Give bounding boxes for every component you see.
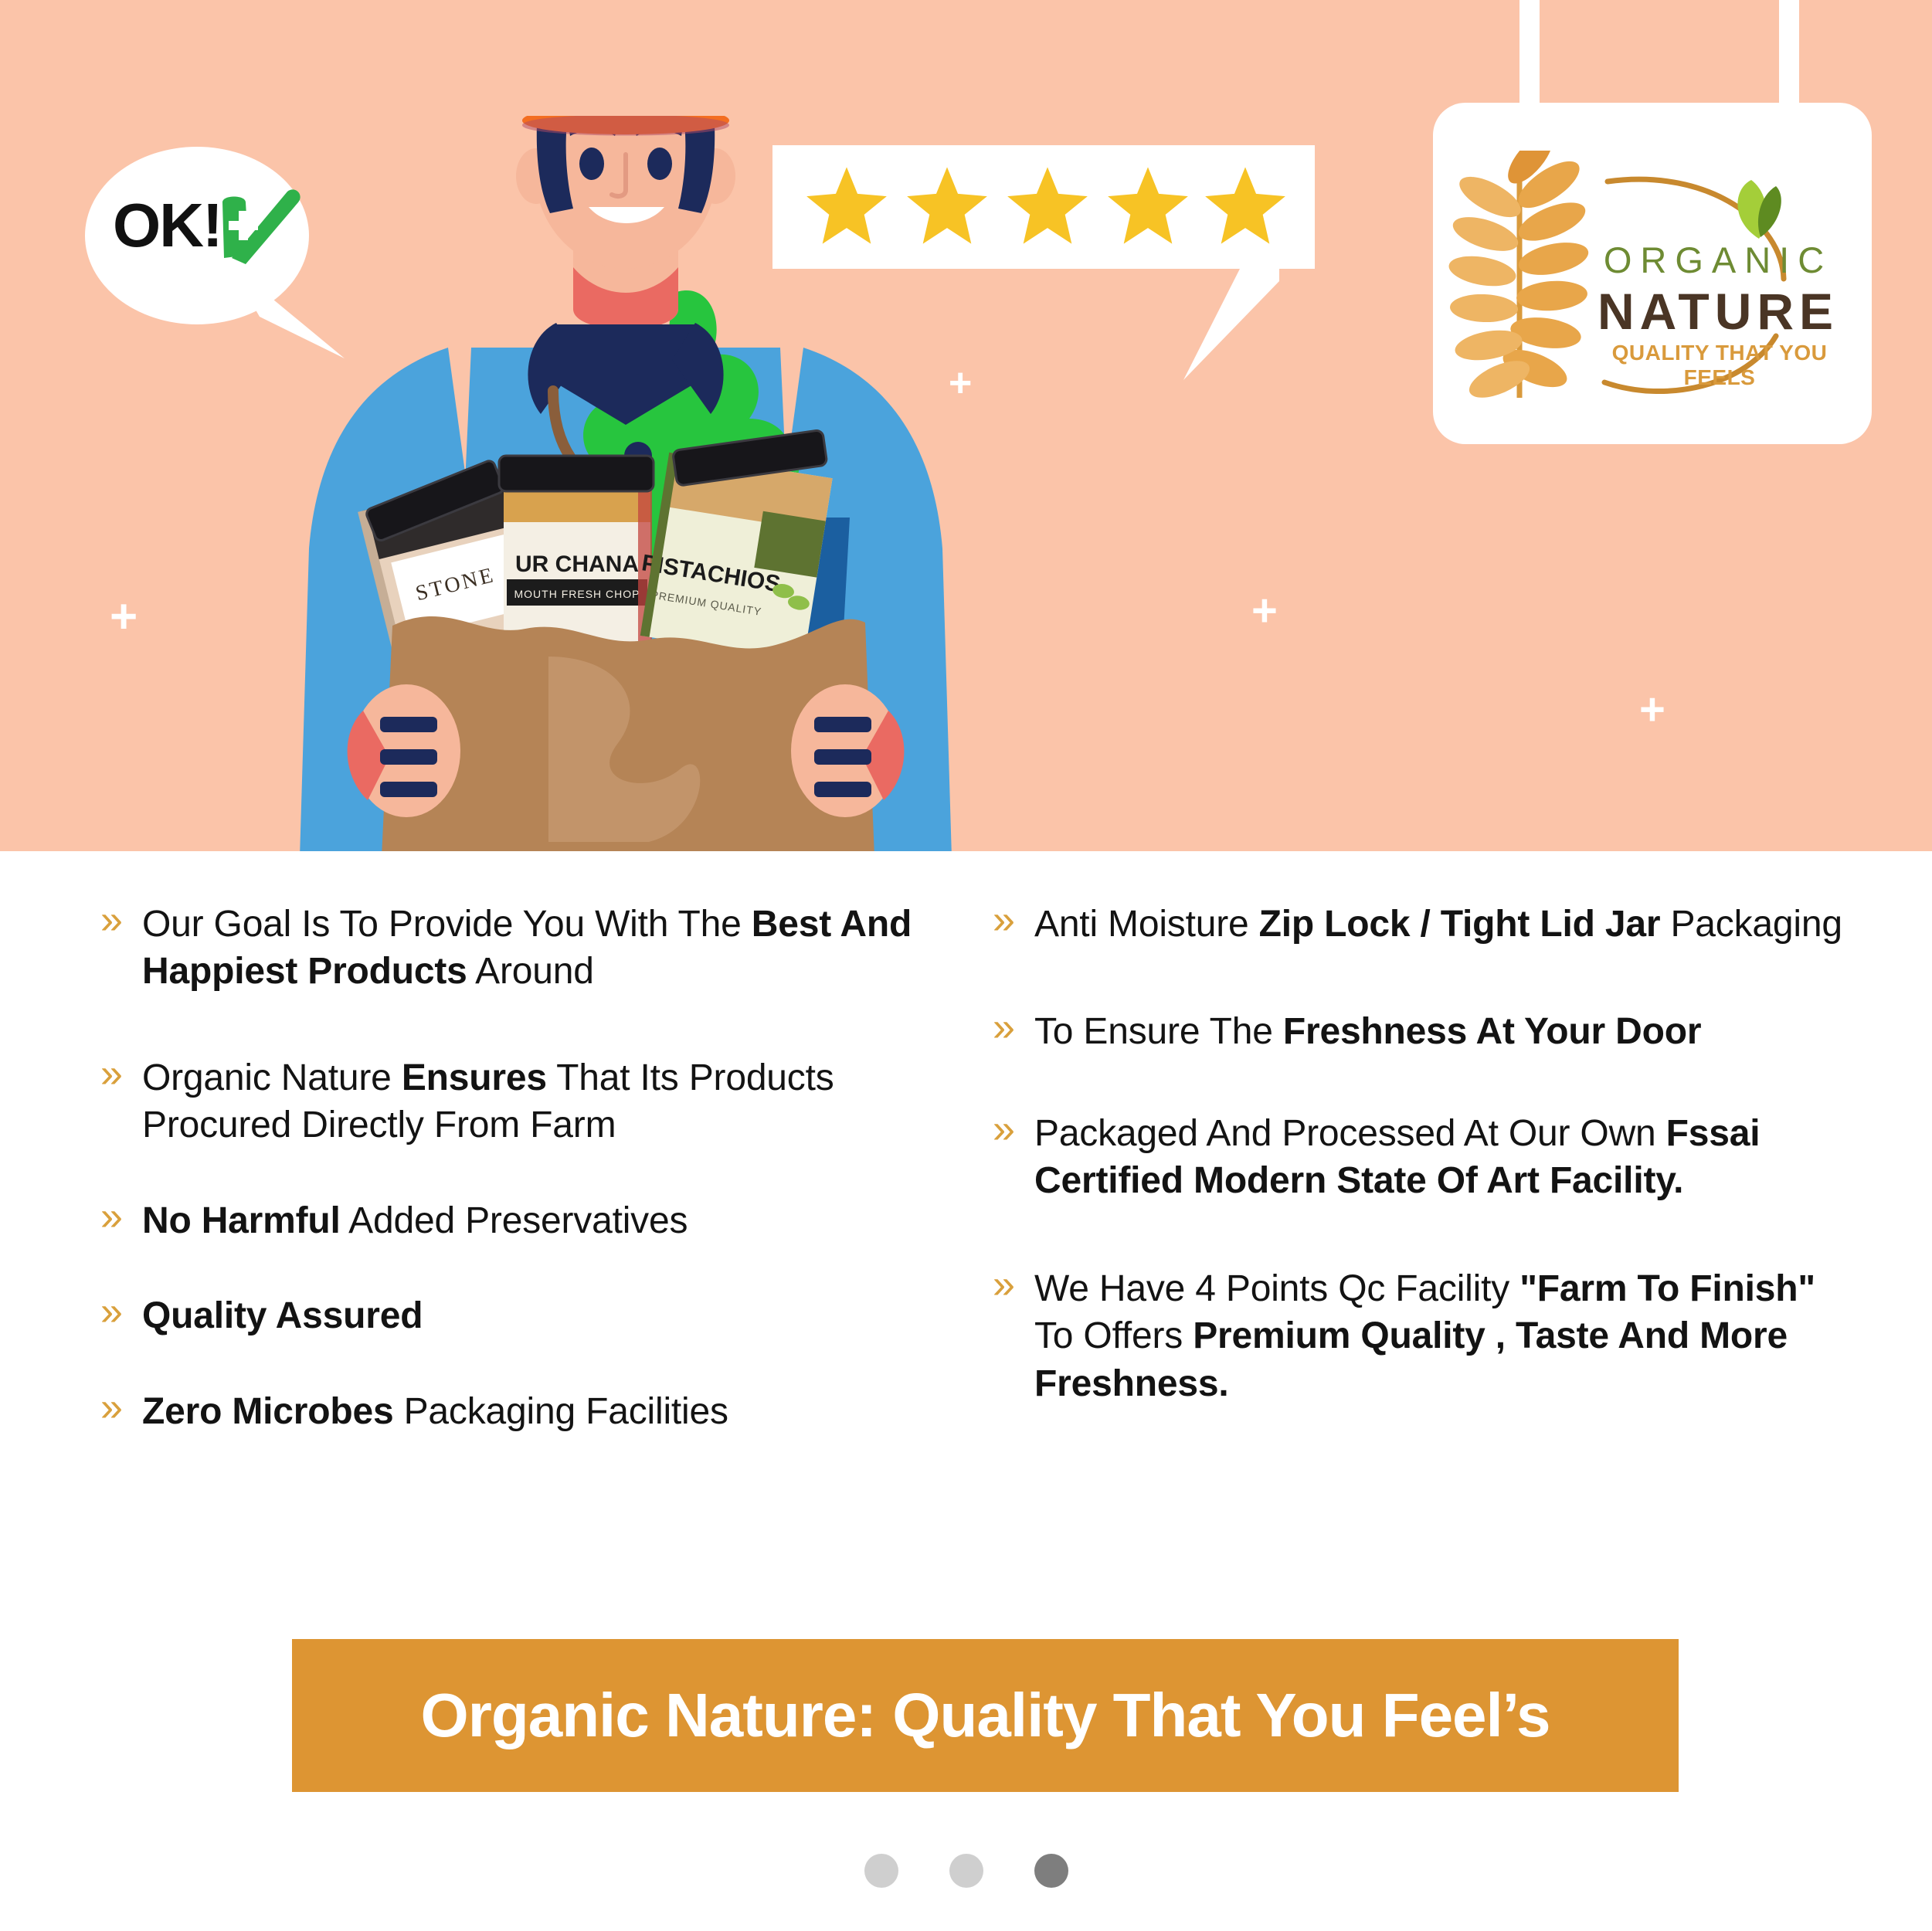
carousel-dot-3[interactable] [1034, 1854, 1068, 1888]
logo-line-organic: ORGANIC [1591, 239, 1845, 281]
svg-text:UR CHANA: UR CHANA [515, 551, 639, 577]
feature-bullet-text: No Harmful Added Preservatives [142, 1197, 935, 1244]
feature-bullet-text: Our Goal Is To Provide You With The Best… [142, 901, 935, 996]
feature-bullet-right-3: »Packaged And Processed At Our Own Fssai… [993, 1110, 1858, 1205]
feature-bullet-text: Zero Microbes Packaging Facilities [142, 1388, 935, 1435]
carousel-dot-2[interactable] [949, 1854, 983, 1888]
rating-speech-bubble [772, 145, 1315, 269]
bubble-tail-icon [229, 263, 352, 363]
star-icon [905, 165, 989, 246]
feature-bullet-text: To Ensure The Freshness At Your Door [1034, 1008, 1858, 1055]
star-icon [1204, 165, 1287, 246]
double-chevron-icon: » [100, 1386, 142, 1429]
ok-speech-bubble: OK! [85, 147, 309, 324]
green-check-with-plus-icon [215, 184, 304, 269]
leaf-pair-icon [1725, 178, 1793, 242]
feature-bullet-left-3: »No Harmful Added Preservatives [100, 1197, 935, 1244]
logo-line-nature: NATURE [1584, 282, 1852, 341]
feature-bullet-text: We Have 4 Points Qc Facility "Farm To Fi… [1034, 1265, 1858, 1407]
tagline-banner-text: Organic Nature: Quality That You Feel’s [420, 1680, 1550, 1751]
tag-string-left [1519, 0, 1540, 105]
feature-bullet-left-4: »Quality Assured [100, 1292, 935, 1339]
feature-bullet-right-4: »We Have 4 Points Qc Facility "Farm To F… [993, 1265, 1858, 1407]
tagline-banner: Organic Nature: Quality That You Feel’s [292, 1639, 1679, 1792]
feature-bullet-left-5: »Zero Microbes Packaging Facilities [100, 1388, 935, 1435]
carousel-dot-1[interactable] [864, 1854, 898, 1888]
double-chevron-icon: » [993, 899, 1034, 942]
features-section: »Our Goal Is To Provide You With The Bes… [0, 851, 1932, 1624]
bubble-tail-icon [1182, 267, 1282, 382]
plus-decoration-icon: + [1639, 687, 1665, 732]
carousel-dots[interactable] [0, 1854, 1932, 1888]
feature-bullet-left-2: »Organic Nature Ensures That Its Product… [100, 1054, 935, 1149]
feature-bullet-text: Anti Moisture Zip Lock / Tight Lid Jar P… [1034, 901, 1858, 948]
feature-bullet-left-1: »Our Goal Is To Provide You With The Bes… [100, 901, 935, 996]
double-chevron-icon: » [100, 1291, 142, 1333]
organic-nature-logo-tag: ORGANIC NATURE QUALITY THAT YOU FEELS [1433, 103, 1872, 444]
star-icon [805, 165, 888, 246]
star-icon [1106, 165, 1190, 246]
features-column-left: »Our Goal Is To Provide You With The Bes… [100, 901, 935, 1480]
plus-decoration-icon: + [1251, 589, 1278, 633]
svg-text:MOUTH FRESH CHOP: MOUTH FRESH CHOP [514, 588, 640, 600]
feature-bullet-text: Quality Assured [142, 1292, 935, 1339]
double-chevron-icon: » [993, 1108, 1034, 1151]
plus-decoration-icon: + [110, 593, 138, 641]
feature-bullet-text: Packaged And Processed At Our Own Fssai … [1034, 1110, 1858, 1205]
double-chevron-icon: » [993, 1264, 1034, 1306]
double-chevron-icon: » [100, 1196, 142, 1238]
tag-string-right [1779, 0, 1799, 105]
star-icon [1006, 165, 1089, 246]
feature-bullet-text: Organic Nature Ensures That Its Products… [142, 1054, 935, 1149]
feature-bullet-right-2: »To Ensure The Freshness At Your Door [993, 1008, 1858, 1055]
ok-label: OK! [113, 195, 229, 256]
hero-banner: + + + + [0, 0, 1932, 851]
double-chevron-icon: » [100, 1053, 142, 1095]
features-column-right: »Anti Moisture Zip Lock / Tight Lid Jar … [993, 901, 1858, 1452]
feature-bullet-right-1: »Anti Moisture Zip Lock / Tight Lid Jar … [993, 901, 1858, 948]
double-chevron-icon: » [100, 899, 142, 942]
logo-tagline: QUALITY THAT YOU FEELS [1584, 341, 1855, 390]
double-chevron-icon: » [993, 1006, 1034, 1049]
